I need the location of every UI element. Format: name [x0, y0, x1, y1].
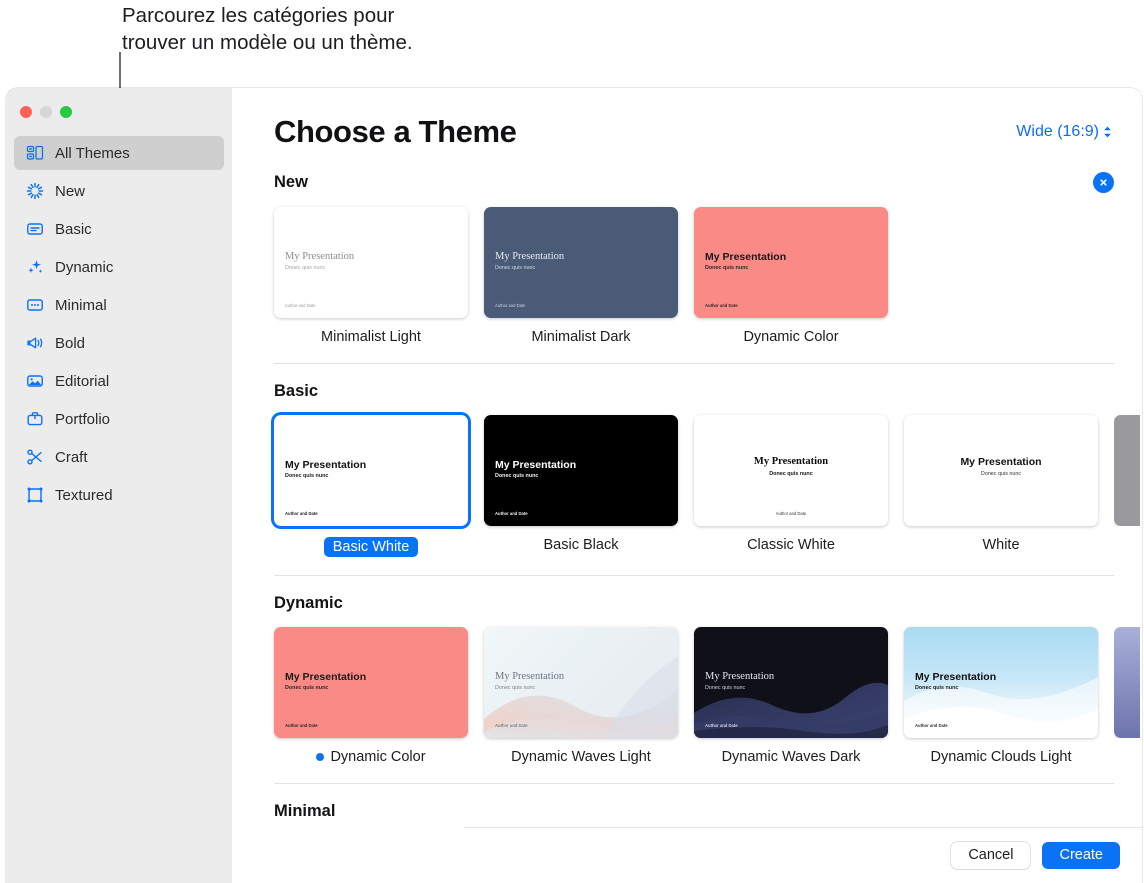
page-title: Choose a Theme — [274, 114, 516, 150]
section-header: Minimal — [274, 802, 1142, 821]
theme-row[interactable]: My PresentationDonec quis nuncAuthor and… — [274, 627, 1142, 765]
briefcase-icon — [25, 410, 44, 429]
theme-label: Basic Black — [484, 537, 678, 553]
thumb-subtitle: Donec quis nunc — [285, 685, 328, 691]
section-divider — [274, 575, 1114, 576]
theme-thumbnail[interactable]: My PresentationDonec quis nuncAuthor and… — [484, 415, 678, 526]
category-list: All ThemesNewBasicDynamicMinimalBoldEdit… — [6, 136, 232, 512]
dismiss-section-button[interactable] — [1093, 172, 1114, 193]
window-traffic-lights — [6, 97, 232, 118]
theme-card[interactable]: My PresentationDonec quis nuncAuthor and… — [484, 627, 678, 765]
thumb-title: My Presentation — [694, 456, 888, 467]
sidebar-item-label: Minimal — [55, 297, 107, 314]
callout-line-2: trouver un modèle ou un thème. — [122, 29, 542, 56]
thumb-subtitle: Donec quis nunc — [495, 265, 535, 271]
chevron-up-down-icon — [1103, 126, 1112, 138]
sidebar-item-label: Editorial — [55, 373, 109, 390]
theme-name: White — [982, 537, 1019, 553]
theme-thumbnail[interactable]: My PresentationDonec quis nuncAuthor and… — [484, 207, 678, 318]
thumb-title: My Presentation — [495, 671, 564, 682]
new-indicator-dot — [316, 753, 324, 761]
section-title: New — [274, 173, 308, 192]
theme-name: Minimalist Light — [321, 329, 421, 345]
section-header: Basic — [274, 382, 1142, 401]
theme-thumbnail[interactable]: My PresentationDonec quis nuncAuthor and… — [694, 207, 888, 318]
theme-name: Basic Black — [544, 537, 619, 553]
theme-name: Dynamic Color — [743, 329, 838, 345]
theme-label: Dynamic Waves Dark — [694, 749, 888, 765]
sidebar-item-editorial[interactable]: Editorial — [14, 364, 224, 398]
theme-label: Minimalist Dark — [484, 329, 678, 345]
thumb-footer: Author and Date — [495, 303, 526, 308]
sidebar-item-label: Textured — [55, 487, 113, 504]
rectangle-lines-icon — [25, 220, 44, 239]
thumb-title: My Presentation — [705, 671, 774, 682]
thumb-footer: Author and Date — [705, 303, 738, 308]
thumb-footer: Author and Date — [495, 723, 528, 728]
theme-section: NewMy PresentationDonec quis nuncAuthor … — [274, 172, 1142, 345]
theme-thumbnail-partial[interactable] — [1114, 415, 1140, 526]
section-title: Minimal — [274, 802, 335, 821]
zoom-window-button[interactable] — [60, 106, 72, 118]
theme-card[interactable]: My PresentationDonec quis nuncAuthor and… — [274, 627, 468, 765]
slide-size-select[interactable]: Wide (16:9) — [1016, 123, 1112, 141]
theme-row[interactable]: My PresentationDonec quis nuncAuthor and… — [274, 207, 1142, 345]
thumb-title: My Presentation — [285, 671, 366, 683]
theme-label: Basic White — [274, 537, 468, 557]
theme-card[interactable]: My PresentationDonec quis nuncAuthor and… — [694, 627, 888, 765]
main-panel: Choose a Theme Wide (16:9) NewMy Present… — [232, 88, 1142, 883]
thumb-subtitle: Donec quis nunc — [904, 471, 1098, 477]
thumb-footer: Author and Date — [285, 303, 316, 308]
sidebar-item-bold[interactable]: Bold — [14, 326, 224, 360]
theme-name: Dynamic Clouds Light — [930, 749, 1071, 765]
theme-card[interactable]: My PresentationDonec quis nuncAuthor and… — [904, 627, 1098, 765]
thumb-subtitle: Donec quis nunc — [694, 471, 888, 477]
sidebar-item-label: Craft — [55, 449, 88, 466]
theme-label: Dynamic Clouds Light — [904, 749, 1098, 765]
theme-thumbnail[interactable]: My PresentationDonec quis nuncAuthor and… — [274, 415, 468, 526]
section-header: Dynamic — [274, 594, 1142, 613]
thumb-title: My Presentation — [285, 459, 366, 471]
megaphone-icon — [25, 334, 44, 353]
thumb-footer: Author and Date — [705, 723, 738, 728]
section-divider — [274, 363, 1114, 364]
theme-row[interactable]: My PresentationDonec quis nuncAuthor and… — [274, 415, 1142, 557]
theme-thumbnail[interactable]: My PresentationDonec quis nuncAuthor and… — [694, 415, 888, 526]
theme-thumbnail[interactable]: My PresentationDonec quis nuncAuthor and… — [274, 207, 468, 318]
minimize-window-button[interactable] — [40, 106, 52, 118]
theme-thumbnail[interactable]: My PresentationDonec quis nuncAuthor and… — [694, 627, 888, 738]
theme-label: Minimalist Light — [274, 329, 468, 345]
theme-name: Dynamic Waves Light — [511, 749, 651, 765]
sidebar-item-minimal[interactable]: Minimal — [14, 288, 224, 322]
thumb-footer: Author and Date — [285, 511, 318, 516]
thumb-subtitle: Donec quis nunc — [495, 473, 538, 479]
thumb-title: My Presentation — [495, 459, 576, 471]
theme-thumbnail[interactable]: My PresentationDonec quis nuncAuthor and… — [274, 627, 468, 738]
theme-label: Dynamic Color — [274, 749, 468, 765]
callout-annotation: Parcourez les catégories pour trouver un… — [122, 2, 542, 57]
theme-chooser-window: All ThemesNewBasicDynamicMinimalBoldEdit… — [6, 88, 1142, 883]
sidebar-item-label: Basic — [55, 221, 92, 238]
thumb-title: My Presentation — [705, 251, 786, 263]
thumb-subtitle: Donec quis nunc — [705, 265, 748, 271]
section-title: Basic — [274, 382, 318, 401]
sidebar-item-label: Portfolio — [55, 411, 110, 428]
theme-thumbnail[interactable]: My PresentationDonec quis nuncAuthor and… — [904, 627, 1098, 738]
scissors-icon — [25, 448, 44, 467]
theme-label: Dynamic Color — [694, 329, 888, 345]
create-button[interactable]: Create — [1042, 842, 1120, 869]
theme-card[interactable]: My PresentationDonec quis nuncAuthor and… — [484, 207, 678, 345]
theme-thumbnail[interactable]: My PresentationDonec quis nuncAuthor and… — [484, 627, 678, 738]
theme-thumbnail[interactable]: My PresentationDonec quis nunc — [904, 415, 1098, 526]
thumb-subtitle: Donec quis nunc — [915, 685, 958, 691]
cancel-button[interactable]: Cancel — [951, 842, 1030, 869]
theme-label: Dynamic Waves Light — [484, 749, 678, 765]
grid-icon — [25, 144, 44, 163]
sidebar: All ThemesNewBasicDynamicMinimalBoldEdit… — [6, 88, 232, 883]
theme-thumbnail-partial[interactable] — [1114, 627, 1140, 738]
sidebar-item-label: All Themes — [55, 145, 130, 162]
thumb-title: My Presentation — [495, 251, 564, 262]
section-header: New — [274, 172, 1142, 193]
thumb-title: My Presentation — [904, 456, 1098, 468]
sidebar-item-dynamic[interactable]: Dynamic — [14, 250, 224, 284]
thumb-title: My Presentation — [915, 671, 996, 683]
theme-card[interactable]: My PresentationDonec quis nuncAuthor and… — [274, 415, 468, 557]
crop-frame-icon — [25, 486, 44, 505]
thumb-title: My Presentation — [285, 251, 354, 262]
sidebar-item-label: Bold — [55, 335, 85, 352]
dialog-footer: Cancel Create — [464, 827, 1142, 883]
callout-line-1: Parcourez les catégories pour — [122, 2, 542, 29]
thumb-footer: Author and Date — [694, 511, 888, 516]
theme-card-partial[interactable] — [1114, 627, 1140, 738]
thumb-footer: Author and Date — [915, 723, 948, 728]
close-icon — [1098, 177, 1109, 188]
theme-card-partial[interactable] — [1114, 415, 1140, 526]
theme-name: Dynamic Waves Dark — [722, 749, 861, 765]
photo-icon — [25, 372, 44, 391]
slide-size-value: Wide (16:9) — [1016, 123, 1099, 141]
close-window-button[interactable] — [20, 106, 32, 118]
sidebar-item-craft[interactable]: Craft — [14, 440, 224, 474]
theme-name: Minimalist Dark — [531, 329, 630, 345]
thumb-subtitle: Donec quis nunc — [495, 685, 535, 691]
sparkles-icon — [25, 258, 44, 277]
thumb-subtitle: Donec quis nunc — [285, 265, 325, 271]
sidebar-item-all-themes[interactable]: All Themes — [14, 136, 224, 170]
theme-section: DynamicMy PresentationDonec quis nuncAut… — [274, 594, 1142, 765]
theme-card[interactable]: My PresentationDonec quis nuncWhite — [904, 415, 1098, 553]
theme-name: Dynamic Color — [330, 749, 425, 765]
main-header: Choose a Theme Wide (16:9) — [232, 88, 1142, 150]
sidebar-item-textured[interactable]: Textured — [14, 478, 224, 512]
theme-section: Minimal — [274, 802, 1142, 821]
theme-name: Basic White — [324, 537, 419, 557]
theme-label: White — [904, 537, 1098, 553]
sidebar-item-label: Dynamic — [55, 259, 113, 276]
sidebar-item-basic[interactable]: Basic — [14, 212, 224, 246]
thumb-footer: Author and Date — [495, 511, 528, 516]
thumb-subtitle: Donec quis nunc — [285, 473, 328, 479]
thumb-subtitle: Donec quis nunc — [705, 685, 745, 691]
theme-card[interactable]: My PresentationDonec quis nuncAuthor and… — [694, 207, 888, 345]
sidebar-item-label: New — [55, 183, 85, 200]
sparkle-burst-icon — [25, 182, 44, 201]
theme-scroll-area[interactable]: NewMy PresentationDonec quis nuncAuthor … — [232, 172, 1142, 883]
section-title: Dynamic — [274, 594, 343, 613]
theme-name: Classic White — [747, 537, 835, 553]
theme-section: BasicMy PresentationDonec quis nuncAutho… — [274, 382, 1142, 557]
theme-card[interactable]: My PresentationDonec quis nuncAuthor and… — [274, 207, 468, 345]
thumb-footer: Author and Date — [285, 723, 318, 728]
dots-rectangle-icon — [25, 296, 44, 315]
sidebar-item-portfolio[interactable]: Portfolio — [14, 402, 224, 436]
theme-card[interactable]: My PresentationDonec quis nuncAuthor and… — [694, 415, 888, 553]
theme-card[interactable]: My PresentationDonec quis nuncAuthor and… — [484, 415, 678, 553]
theme-label: Classic White — [694, 537, 888, 553]
sidebar-item-new[interactable]: New — [14, 174, 224, 208]
section-divider — [274, 783, 1114, 784]
